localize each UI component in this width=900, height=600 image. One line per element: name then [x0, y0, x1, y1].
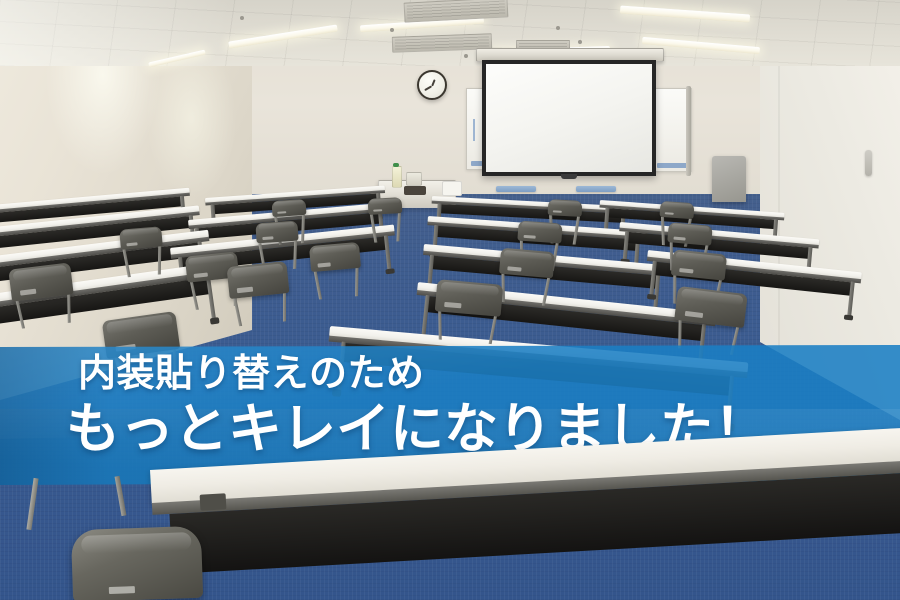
chair-tag	[262, 236, 273, 240]
chair-r3-b	[309, 242, 361, 272]
whiteboard-rod	[686, 86, 691, 176]
desk-caster-right	[385, 268, 394, 274]
dark-object	[404, 186, 426, 195]
chair-tag	[20, 289, 37, 295]
left-wall-light-glow-2	[146, 64, 237, 200]
chair-back	[368, 197, 403, 215]
banner-headline-line1: 内装貼り替えのため	[78, 355, 880, 393]
foreground-chair	[72, 528, 202, 600]
chair-r2-d	[667, 222, 713, 246]
projection-screen	[482, 60, 656, 176]
chair-r4-c	[435, 279, 504, 317]
chair-tag	[126, 242, 137, 246]
partition-panel	[712, 156, 746, 202]
chair-back	[548, 199, 583, 217]
screenshot-root: 内装貼り替えのため もっとキレイになりました！	[0, 0, 900, 600]
chair-legs	[501, 274, 549, 306]
chair-r4-a	[8, 262, 73, 301]
ceiling-sensor-1	[240, 16, 244, 20]
chair-r4-d	[674, 286, 748, 328]
suspended-tile-ceiling	[0, 0, 900, 66]
chair-r3-d	[671, 249, 727, 281]
chair-legs	[315, 268, 359, 300]
chair-tag	[664, 212, 673, 215]
white-object	[442, 181, 462, 196]
tissue-box	[406, 172, 422, 186]
chair-tag	[552, 211, 561, 214]
desk-caster-right	[844, 315, 853, 321]
chair-r1-b	[368, 197, 403, 215]
projection-screen-face	[486, 64, 652, 172]
projection-screen-pull	[561, 174, 577, 179]
chair-r2-a	[119, 226, 163, 250]
ceiling-sensor-5	[464, 54, 468, 58]
ceiling-sensor-2	[390, 28, 394, 32]
chair-tag	[524, 235, 536, 239]
desk-caster-right	[210, 317, 220, 324]
whiteboard-tray-right	[657, 163, 687, 168]
chair-tag	[444, 302, 461, 308]
chair-tag	[318, 263, 331, 268]
desk-caster-left	[647, 294, 656, 300]
whiteboard-eraser-2	[576, 186, 616, 192]
chair-r1-a	[271, 199, 306, 217]
wall-light-switch	[865, 150, 872, 176]
sanitizer-cap	[393, 163, 399, 167]
chair-r2-c	[517, 220, 562, 243]
chair-tag	[237, 287, 253, 293]
chair-tag	[277, 211, 286, 214]
chair-r1-d	[659, 201, 694, 219]
chair-tag	[679, 268, 693, 273]
ceiling-sensor-4	[578, 40, 582, 44]
chair-r4-b	[226, 261, 289, 299]
sanitizer-bottle	[392, 166, 402, 188]
chair-legs	[124, 246, 162, 277]
ceiling-light-wash	[0, 0, 280, 66]
chair-tag	[674, 237, 686, 241]
foreground-chair-back	[71, 526, 203, 600]
chair-r1-c	[548, 199, 583, 217]
foreground-desk-bracket	[200, 493, 227, 510]
chair-r3-c	[499, 248, 555, 279]
whiteboard-eraser-1	[496, 186, 536, 192]
chair-tag	[194, 273, 208, 278]
foreground-chair-tag	[109, 586, 135, 594]
wall-clock	[417, 70, 447, 100]
chair-legs	[371, 213, 401, 242]
chair-legs	[235, 293, 288, 326]
ceiling-sensor-3	[556, 26, 560, 30]
chair-tag	[685, 311, 704, 318]
chair-legs	[438, 312, 496, 345]
chair-tag	[373, 209, 382, 212]
chair-r2-b	[255, 221, 298, 244]
chair-tag	[507, 267, 521, 272]
whiteboard-marker	[473, 119, 475, 141]
